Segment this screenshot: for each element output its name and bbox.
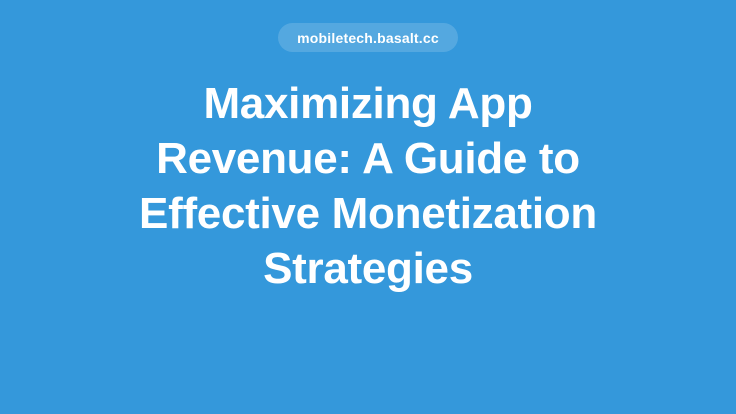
page-title: Maximizing App Revenue: A Guide to Effec… <box>137 76 599 296</box>
url-badge-label: mobiletech.basalt.cc <box>297 31 439 45</box>
slide-canvas: mobiletech.basalt.cc Maximizing App Reve… <box>0 0 736 414</box>
url-badge: mobiletech.basalt.cc <box>278 23 458 52</box>
headline-container: Maximizing App Revenue: A Guide to Effec… <box>137 76 599 296</box>
